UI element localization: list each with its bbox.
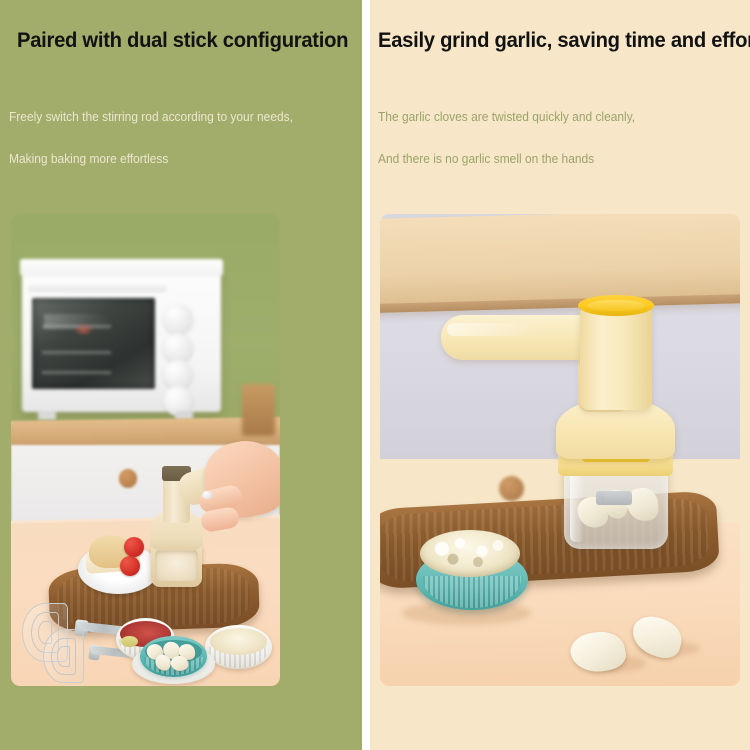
chopper-yellow-cap xyxy=(578,295,654,316)
panel-left: Paired with dual stick configuration Fre… xyxy=(0,0,362,750)
fingernail xyxy=(202,491,213,500)
panel-left-subtitle-line-2: Making baking more effortless xyxy=(9,153,168,166)
chopper-handle xyxy=(441,315,592,360)
panel-right-photo xyxy=(380,214,740,686)
panel-right-heading: Easily grind garlic, saving time and eff… xyxy=(378,30,750,52)
panel-right-subtitle-line-2: And there is no garlic smell on the hand… xyxy=(378,153,594,166)
toaster-oven-icon xyxy=(22,266,221,412)
panel-right: Easily grind garlic, saving time and eff… xyxy=(370,0,750,750)
cherry-tomato xyxy=(124,537,144,557)
panel-right-subtitle-line-1: The garlic cloves are twisted quickly an… xyxy=(378,111,635,124)
wooden-jar xyxy=(242,384,274,436)
chopper-motor-housing xyxy=(580,306,652,410)
whisk-attachment xyxy=(43,629,113,681)
cabinet-knob xyxy=(119,469,138,488)
chopper-blade xyxy=(596,491,632,505)
panel-left-photo xyxy=(11,214,280,686)
panel-left-heading: Paired with dual stick configuration xyxy=(17,30,348,52)
product-infographic: Paired with dual stick configuration Fre… xyxy=(0,0,750,750)
panel-divider xyxy=(362,0,370,750)
wooden-shelf xyxy=(380,214,740,313)
panel-left-subtitle-line-1: Freely switch the stirring rod according… xyxy=(9,111,293,124)
cabinet-knob xyxy=(499,476,524,501)
